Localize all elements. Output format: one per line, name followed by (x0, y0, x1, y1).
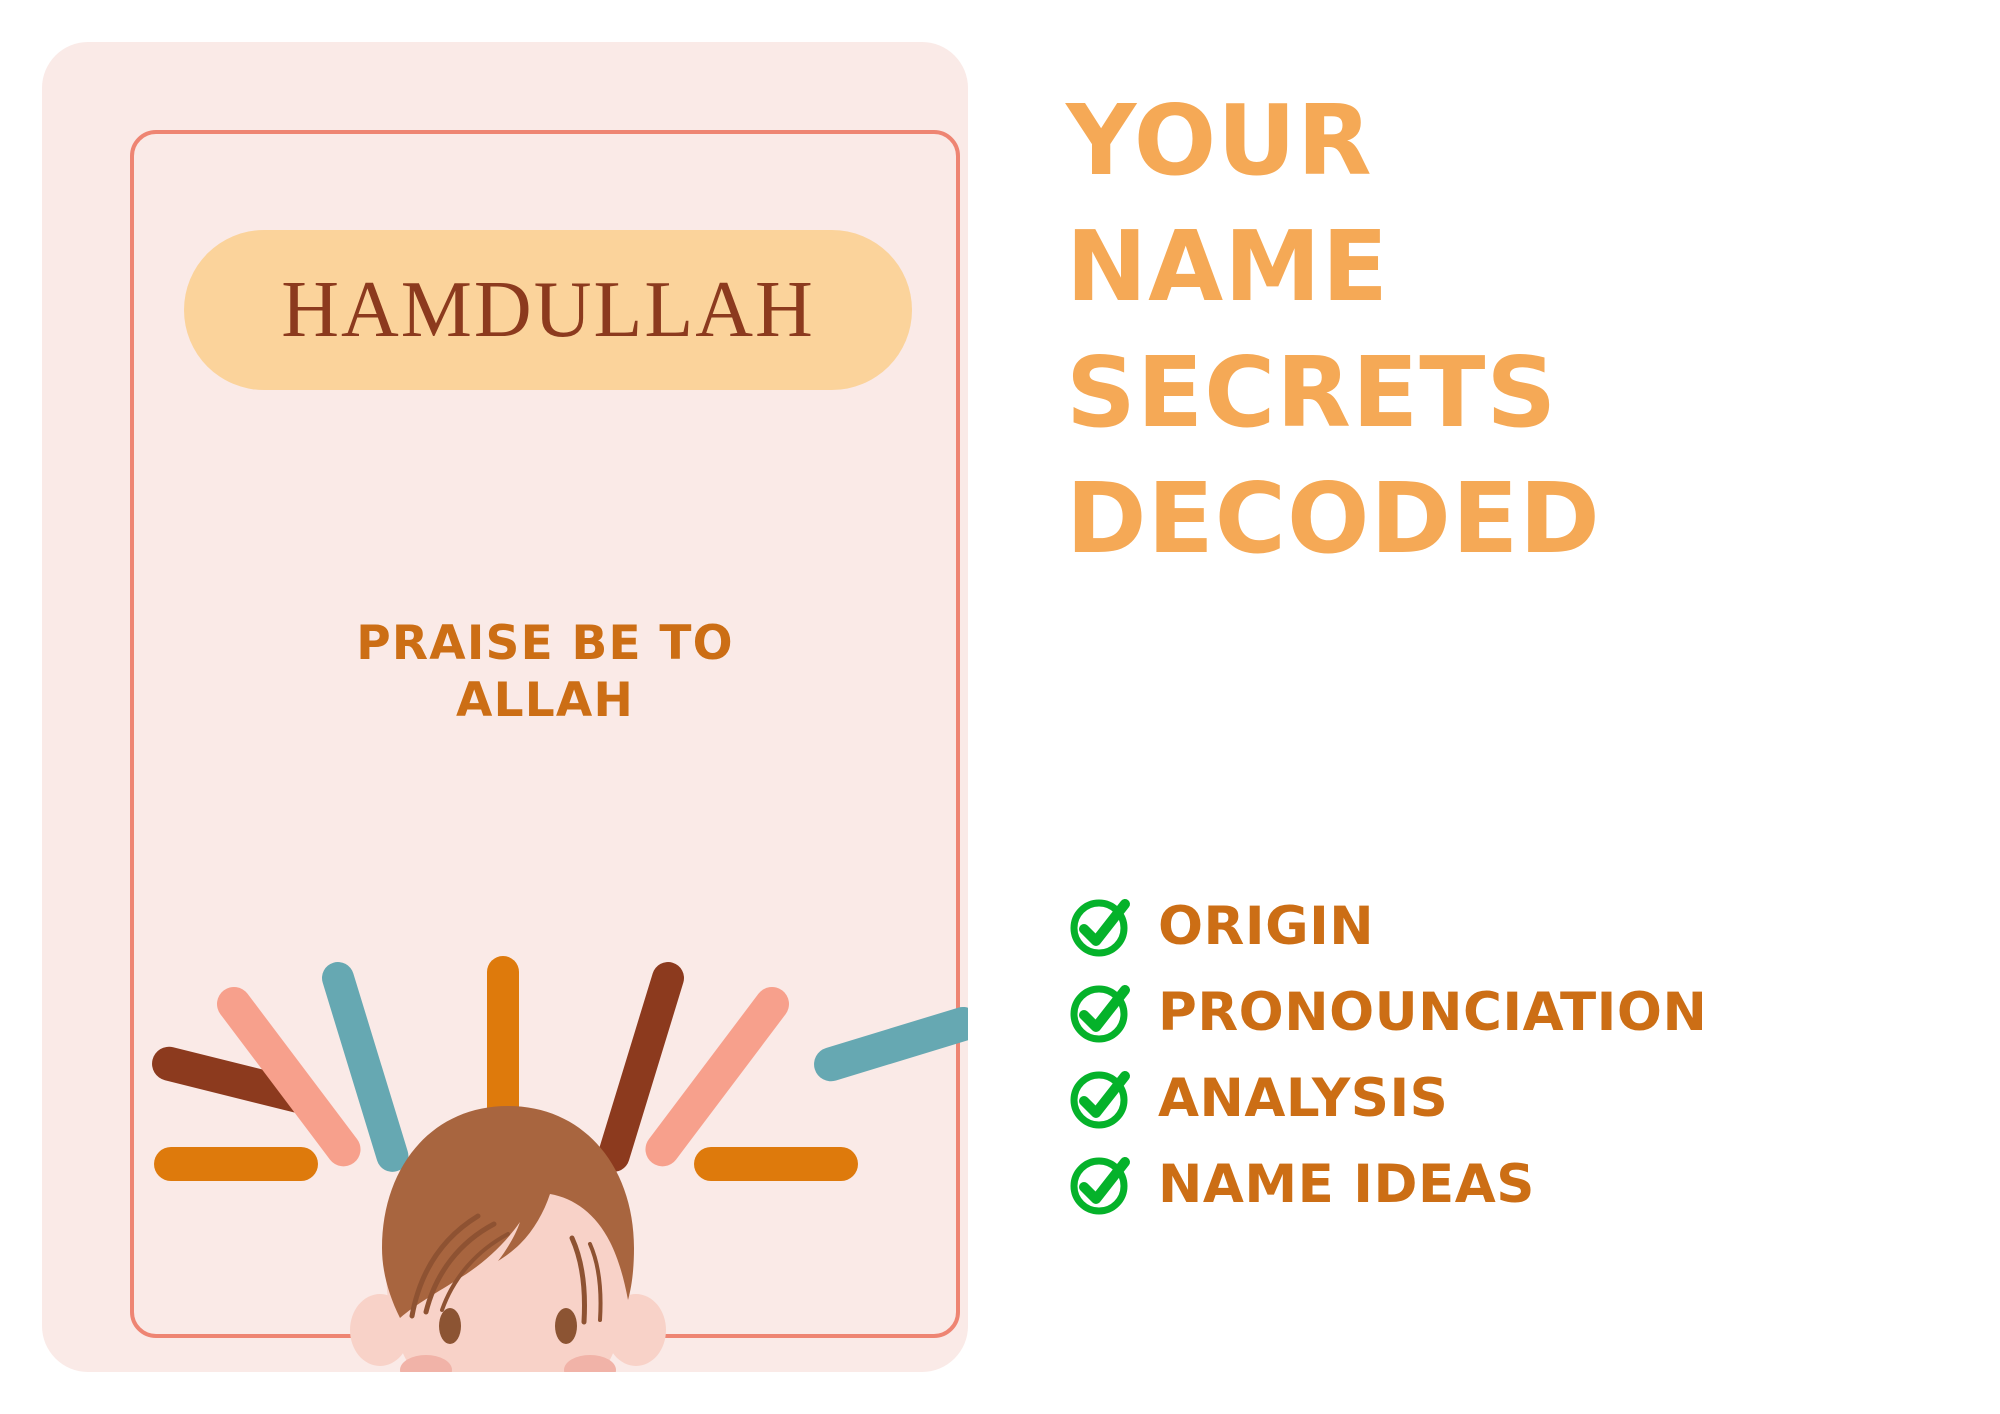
checklist-label: PRONOUNCIATION (1158, 986, 1707, 1039)
name-card: HAMDULLAH PRAISE BE TO ALLAH (42, 42, 968, 1372)
check-circle-icon (1068, 893, 1134, 959)
check-circle-icon (1068, 1151, 1134, 1217)
checklist-item-origin: ORIGIN (1068, 888, 1968, 964)
feature-checklist: ORIGIN PRONOUNCIATION ANALYSIS (1068, 888, 1968, 1232)
headline-block: YOUR NAME SECRETS DECODED (1066, 78, 1966, 582)
name-pill: HAMDULLAH (184, 230, 912, 390)
right-column: YOUR NAME SECRETS DECODED ORIGIN PRONOUN… (1066, 0, 1966, 1414)
name-meaning: PRAISE BE TO ALLAH (130, 615, 960, 730)
check-circle-icon (1068, 979, 1134, 1045)
headline-line-3: SECRETS (1066, 330, 1966, 456)
checklist-label: ANALYSIS (1158, 1072, 1448, 1125)
headline-line-4: DECODED (1066, 456, 1966, 582)
checklist-item-pronounciation: PRONOUNCIATION (1068, 974, 1968, 1050)
ray-left-horizontal (148, 1043, 321, 1117)
eye-left (439, 1308, 461, 1344)
child-face-illustration (338, 1072, 678, 1372)
meaning-line-1: PRAISE BE TO (130, 615, 960, 672)
headline-line-2: NAME (1066, 204, 1966, 330)
poster-canvas: HAMDULLAH PRAISE BE TO ALLAH (0, 0, 2000, 1414)
bar-bottom-right (694, 1147, 858, 1181)
checklist-item-name-ideas: NAME IDEAS (1068, 1146, 1968, 1222)
bar-bottom-left (154, 1147, 318, 1181)
check-circle-icon (1068, 1065, 1134, 1131)
checklist-label: ORIGIN (1158, 900, 1374, 953)
meaning-line-2: ALLAH (130, 672, 960, 729)
name-pill-label: HAMDULLAH (281, 270, 815, 350)
checklist-label: NAME IDEAS (1158, 1158, 1535, 1211)
checklist-item-analysis: ANALYSIS (1068, 1060, 1968, 1136)
eye-right (555, 1308, 577, 1344)
headline-line-1: YOUR (1066, 78, 1966, 204)
ray-right-lower (810, 1003, 968, 1086)
